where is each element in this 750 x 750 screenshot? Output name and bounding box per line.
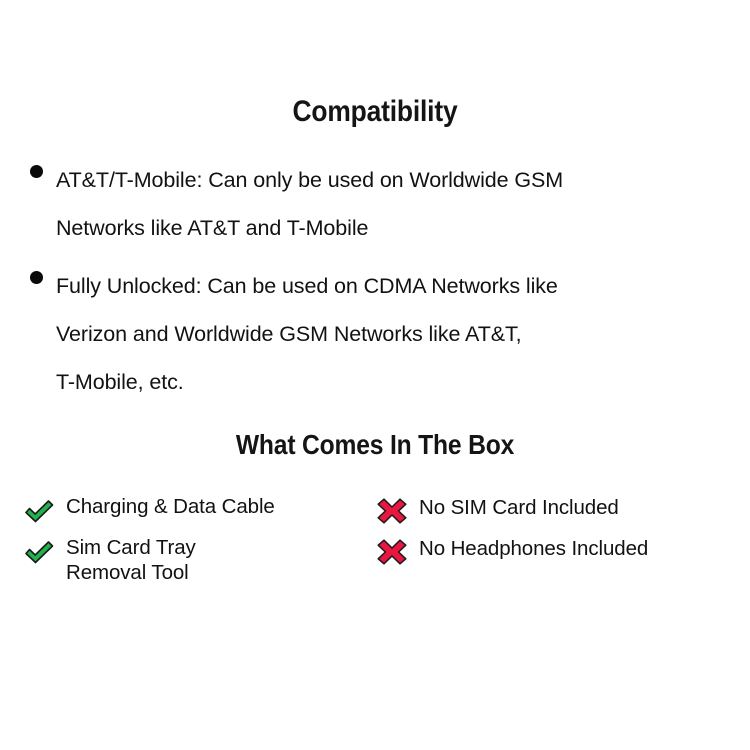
list-item: No SIM Card Included bbox=[375, 493, 750, 526]
bullet-dot-icon bbox=[30, 271, 43, 284]
compatibility-list: AT&T/T-Mobile: Can only be used on World… bbox=[0, 156, 750, 416]
green-check-icon bbox=[22, 496, 56, 526]
list-item: Sim Card Tray Removal Tool bbox=[22, 534, 370, 585]
list-item-label: No SIM Card Included bbox=[419, 493, 619, 520]
list-item-label: Fully Unlocked: Can be used on CDMA Netw… bbox=[56, 262, 750, 406]
red-cross-icon bbox=[375, 537, 409, 567]
included-items-column: Charging & Data Cable Sim Card Tray Remo… bbox=[0, 493, 370, 593]
list-item-label: AT&T/T-Mobile: Can only be used on World… bbox=[56, 156, 750, 252]
green-check-icon bbox=[22, 537, 56, 567]
not-included-items-column: No SIM Card Included No Headphones Inclu… bbox=[370, 493, 750, 575]
list-item: Charging & Data Cable bbox=[22, 493, 370, 526]
list-item: Fully Unlocked: Can be used on CDMA Netw… bbox=[0, 262, 750, 406]
list-item: AT&T/T-Mobile: Can only be used on World… bbox=[0, 156, 750, 252]
box-contents-heading: What Comes In The Box bbox=[45, 429, 705, 461]
compatibility-heading: Compatibility bbox=[45, 95, 705, 129]
list-item-label: Sim Card Tray Removal Tool bbox=[66, 534, 196, 585]
product-info-panel: Compatibility AT&T/T-Mobile: Can only be… bbox=[0, 0, 750, 750]
list-item-label: No Headphones Included bbox=[419, 534, 648, 561]
list-item: No Headphones Included bbox=[375, 534, 750, 567]
list-item-label: Charging & Data Cable bbox=[66, 493, 275, 519]
box-contents-grid: Charging & Data Cable Sim Card Tray Remo… bbox=[0, 493, 750, 593]
red-cross-icon bbox=[375, 496, 409, 526]
bullet-dot-icon bbox=[30, 165, 43, 178]
